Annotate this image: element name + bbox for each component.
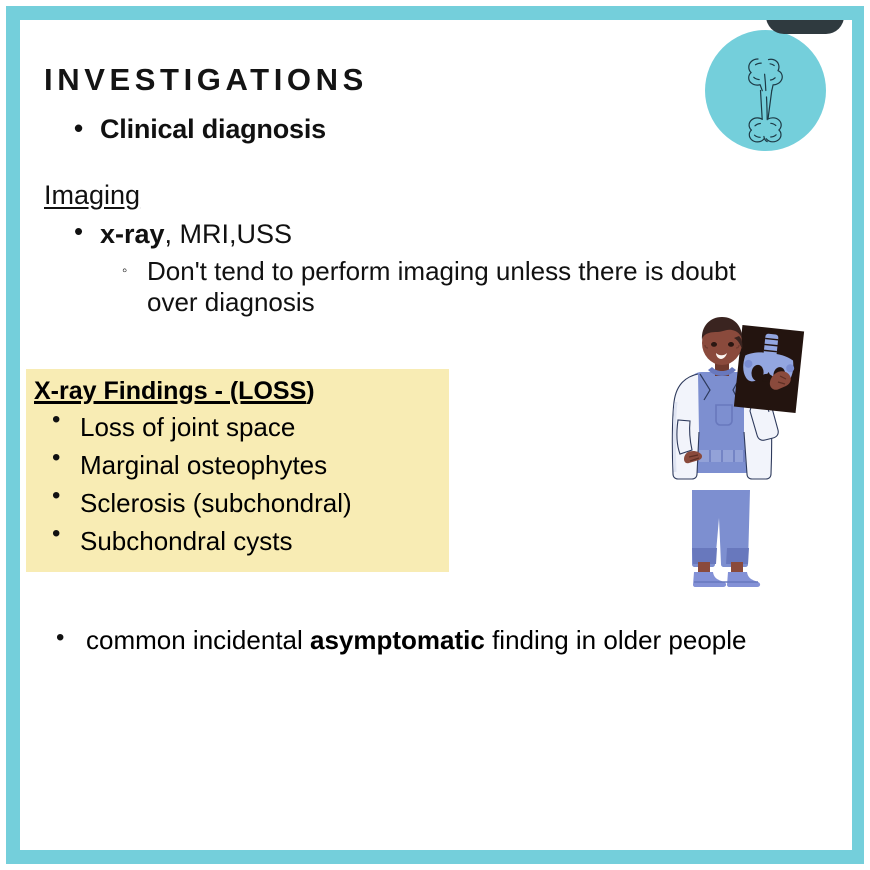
imaging-note-bullet: ◦ Don't tend to perform imaging unless t… — [122, 256, 834, 316]
loss-item-label: Subchondral cysts — [80, 522, 292, 560]
loss-item-label: Sclerosis (subchondral) — [80, 484, 352, 522]
list-item: • Subchondral cysts — [34, 522, 441, 560]
imaging-modalities-rest: , MRI,USS — [165, 219, 293, 249]
incidental-finding-note: • common incidental asymptomatic finding… — [56, 625, 796, 656]
bullet-marker: • — [74, 218, 100, 250]
slide-card: INVESTIGATIONS • Clinical diagnosis Imag… — [20, 20, 852, 850]
imaging-modalities-text: x-ray, MRI,USS — [100, 218, 292, 250]
bullet-marker: • — [52, 408, 80, 446]
clinical-diagnosis-label: Clinical diagnosis — [100, 114, 326, 145]
note-lead: common incidental — [86, 625, 310, 655]
list-item: • Sclerosis (subchondral) — [34, 484, 441, 522]
note-tail: finding in older people — [485, 625, 747, 655]
bullet-marker: • — [52, 522, 80, 560]
xray-findings-highlight-box: X-ray Findings - (LOSS) • Loss of joint … — [26, 369, 449, 572]
xray-findings-title-tail: ) — [306, 377, 314, 405]
imaging-heading: Imaging — [44, 180, 834, 211]
femur-bone-icon — [705, 30, 826, 151]
corner-notch-decoration — [766, 20, 844, 34]
loss-item-label: Loss of joint space — [80, 408, 295, 446]
imaging-note-text: Don't tend to perform imaging unless the… — [147, 256, 787, 316]
asymptomatic-emphasis: asymptomatic — [310, 625, 485, 655]
bullet-marker: • — [52, 446, 80, 484]
loss-item-label: Marginal osteophytes — [80, 446, 327, 484]
bullet-marker: • — [56, 626, 86, 656]
xray-emphasis: x-ray — [100, 219, 165, 249]
incidental-finding-text: common incidental asymptomatic finding i… — [86, 625, 746, 656]
list-item: • Loss of joint space — [34, 408, 441, 446]
bullet-marker: • — [52, 484, 80, 522]
list-item: • Marginal osteophytes — [34, 446, 441, 484]
bullet-marker: • — [74, 115, 100, 145]
xray-findings-title-underlined: X-ray Findings - (LOSS — [34, 377, 306, 405]
slide-root: INVESTIGATIONS • Clinical diagnosis Imag… — [0, 0, 870, 870]
sub-bullet-marker: ◦ — [122, 263, 147, 316]
imaging-modalities-bullet: • x-ray, MRI,USS — [74, 218, 834, 250]
slide-teal-frame: INVESTIGATIONS • Clinical diagnosis Imag… — [6, 6, 864, 864]
xray-findings-title: X-ray Findings - (LOSS) — [34, 375, 441, 408]
doctor-holding-xray-illustration — [632, 310, 832, 610]
